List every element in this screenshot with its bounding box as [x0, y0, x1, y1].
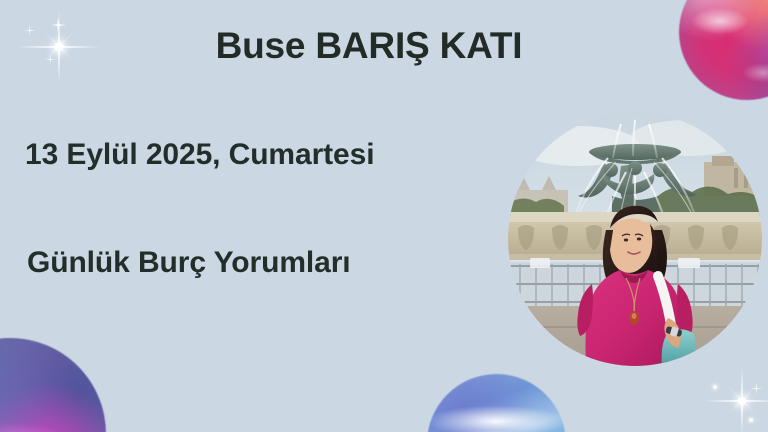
subtitle-label: Günlük Burç Yorumları	[27, 246, 351, 280]
sparkle-star-bottom-right-icon	[700, 364, 768, 432]
sparkle-dot-bottom-right-b-icon	[749, 418, 753, 422]
slide-canvas: Buse BARIŞ KATI 13 Eylül 2025, Cumartesi…	[0, 0, 768, 432]
sparkle-small-bottom-right-icon	[749, 381, 763, 395]
sparkle-dot-bottom-right-a-icon	[713, 385, 717, 389]
portrait-illustration-icon	[508, 112, 762, 366]
watercolor-circle-violet-icon	[0, 338, 106, 432]
portrait-photo	[508, 112, 762, 366]
page-title: Buse BARIŞ KATI	[0, 27, 738, 66]
date-label: 13 Eylül 2025, Cumartesi	[25, 138, 374, 172]
watercolor-circle-blue-icon	[427, 374, 566, 432]
